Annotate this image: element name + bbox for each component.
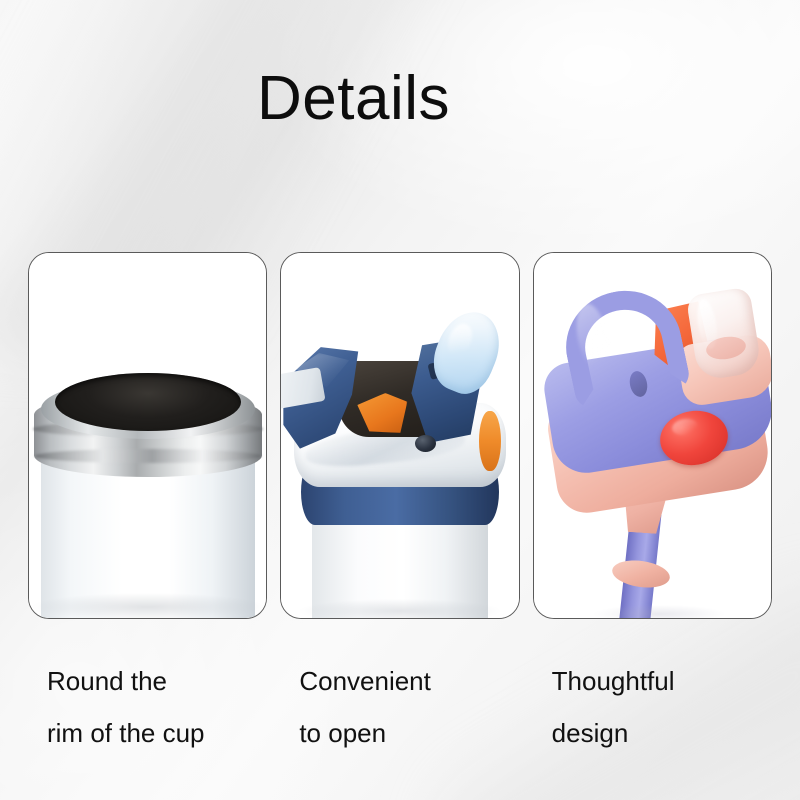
page-title: Details — [0, 68, 707, 130]
caption-thoughtful-design: Thoughtful design — [533, 655, 772, 775]
product-shadow — [33, 593, 263, 618]
lid-assembly-group — [534, 253, 771, 618]
caption-line-2: rim of the cup — [47, 707, 267, 759]
caption-line-2: to open — [299, 707, 519, 759]
product-photo-lid-assembly — [534, 253, 771, 618]
orange-side-accent — [479, 411, 501, 471]
caption-line-2: design — [552, 707, 772, 759]
caption-row: Round the rim of the cup Convenient to o… — [28, 655, 772, 775]
product-details-page: Details — [0, 0, 800, 800]
feature-panel-convenient-open[interactable] — [280, 252, 519, 619]
feature-panel-thoughtful-design[interactable] — [533, 252, 772, 619]
straw-ring-clip — [610, 557, 671, 591]
product-photo-open-lid — [281, 253, 518, 618]
caption-convenient-open: Convenient to open — [280, 655, 519, 775]
caption-line-1: Round the — [47, 655, 267, 707]
bottle-opening — [55, 373, 241, 431]
product-shadow — [300, 599, 500, 618]
caption-round-rim: Round the rim of the cup — [28, 655, 267, 775]
feature-panel-round-rim[interactable] — [28, 252, 267, 619]
product-photo-round-rim — [29, 253, 266, 618]
steel-thread-ring-lower — [35, 449, 261, 463]
caption-line-1: Convenient — [299, 655, 519, 707]
feature-panel-row — [28, 252, 772, 619]
caption-line-1: Thoughtful — [552, 655, 772, 707]
product-shadow — [594, 605, 724, 618]
periwinkle-carry-handle — [555, 280, 691, 412]
